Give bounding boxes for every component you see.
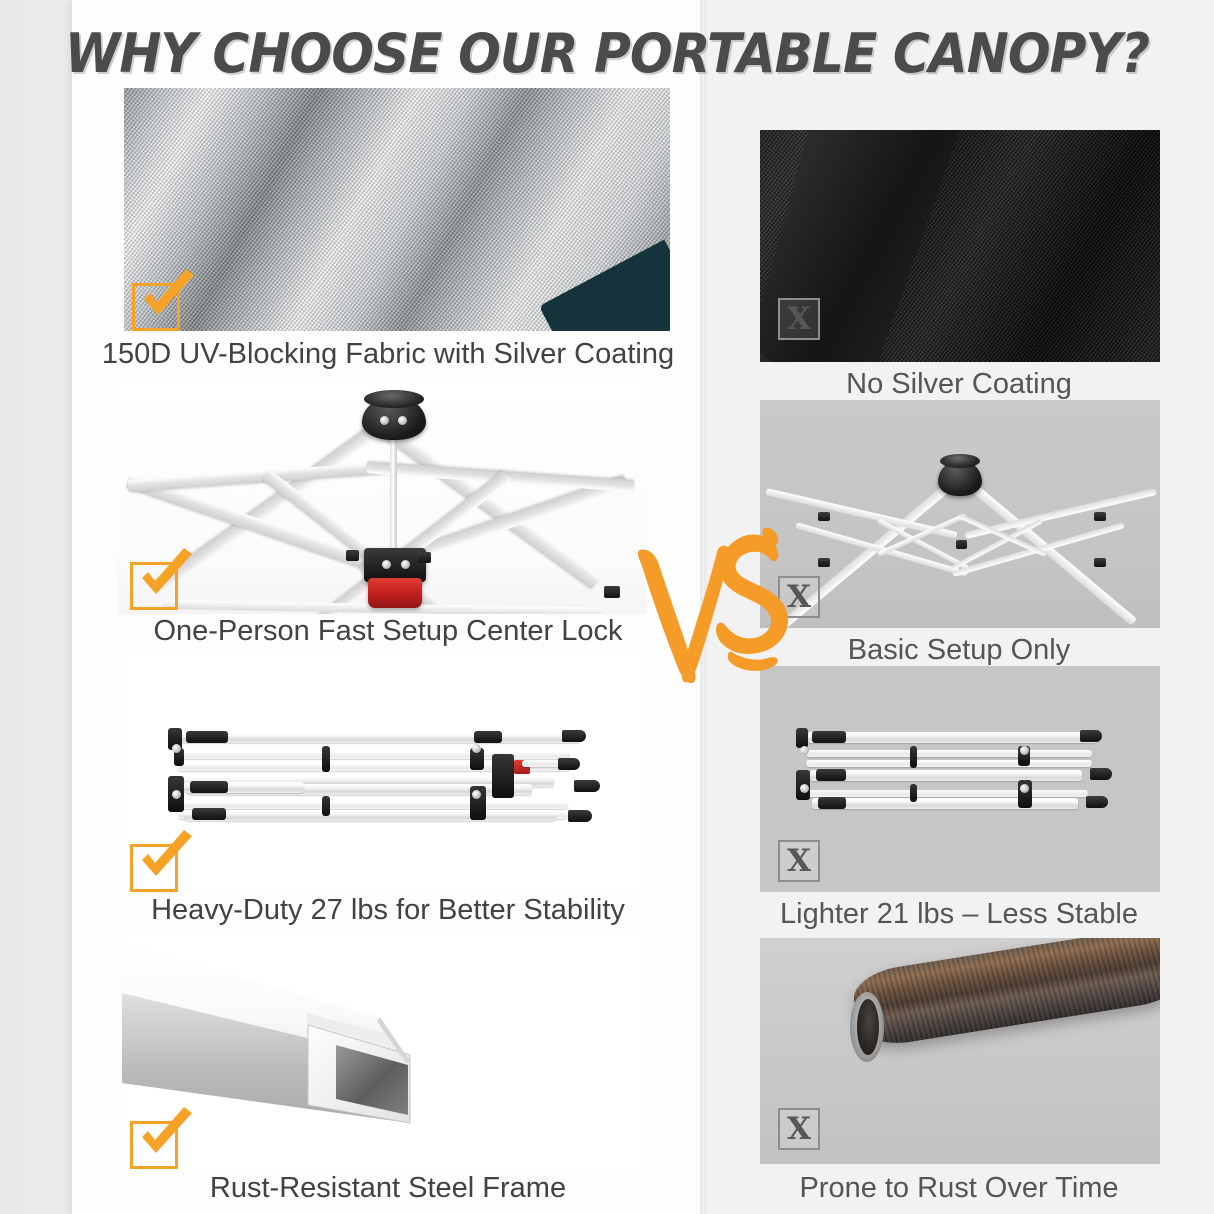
- check-mark-icon: [130, 562, 178, 610]
- pro-card-fabric: [124, 88, 670, 331]
- infographic-root: WHY CHOOSE OUR PORTABLE CANOPY? 150D UV-…: [0, 0, 1214, 1214]
- x-glyph: X: [778, 298, 820, 340]
- rusty-round-pipe-photo: [760, 938, 1160, 1164]
- check-mark-icon: [130, 1121, 178, 1169]
- basic-canopy-frame-photo: [760, 400, 1160, 628]
- con-card-fabric: X: [760, 130, 1160, 362]
- pro-caption-weight: Heavy-Duty 27 lbs for Better Stability: [72, 894, 704, 927]
- plain-black-fabric-photo: [760, 130, 1160, 362]
- check-mark-icon: [130, 844, 178, 892]
- x-mark-icon: X: [778, 1108, 820, 1150]
- con-card-frame: X: [760, 938, 1160, 1164]
- page-title: WHY CHOOSE OUR PORTABLE CANOPY?: [42, 22, 1171, 85]
- canopy-frame-center-lock-photo: [118, 382, 646, 614]
- x-mark-icon: X: [778, 840, 820, 882]
- pro-card-setup: [118, 382, 646, 614]
- con-caption-frame: Prone to Rust Over Time: [704, 1172, 1214, 1205]
- check-mark-icon: [132, 283, 180, 331]
- x-glyph: X: [778, 1108, 820, 1150]
- x-glyph: X: [778, 840, 820, 882]
- square-tube-art: [122, 933, 646, 1171]
- con-caption-weight: Lighter 21 lbs – Less Stable: [704, 898, 1214, 931]
- con-card-weight: X: [760, 666, 1160, 892]
- silver-coated-fabric-photo: [124, 88, 670, 331]
- pro-caption-setup: One-Person Fast Setup Center Lock: [72, 615, 704, 648]
- square-steel-tube-photo: [122, 933, 646, 1171]
- pro-card-frame: [122, 933, 646, 1171]
- pro-caption-fabric: 150D UV-Blocking Fabric with Silver Coat…: [72, 338, 704, 371]
- folded-frame-bundle-photo: [122, 656, 646, 894]
- con-caption-fabric: No Silver Coating: [704, 368, 1214, 401]
- folded-frame-bundle-gray-photo: [760, 666, 1160, 892]
- con-card-setup: X: [760, 400, 1160, 628]
- versus-brush-icon: [636, 522, 796, 692]
- pro-card-weight: [122, 656, 646, 894]
- pro-caption-frame: Rust-Resistant Steel Frame: [72, 1172, 704, 1205]
- x-mark-icon: X: [778, 298, 820, 340]
